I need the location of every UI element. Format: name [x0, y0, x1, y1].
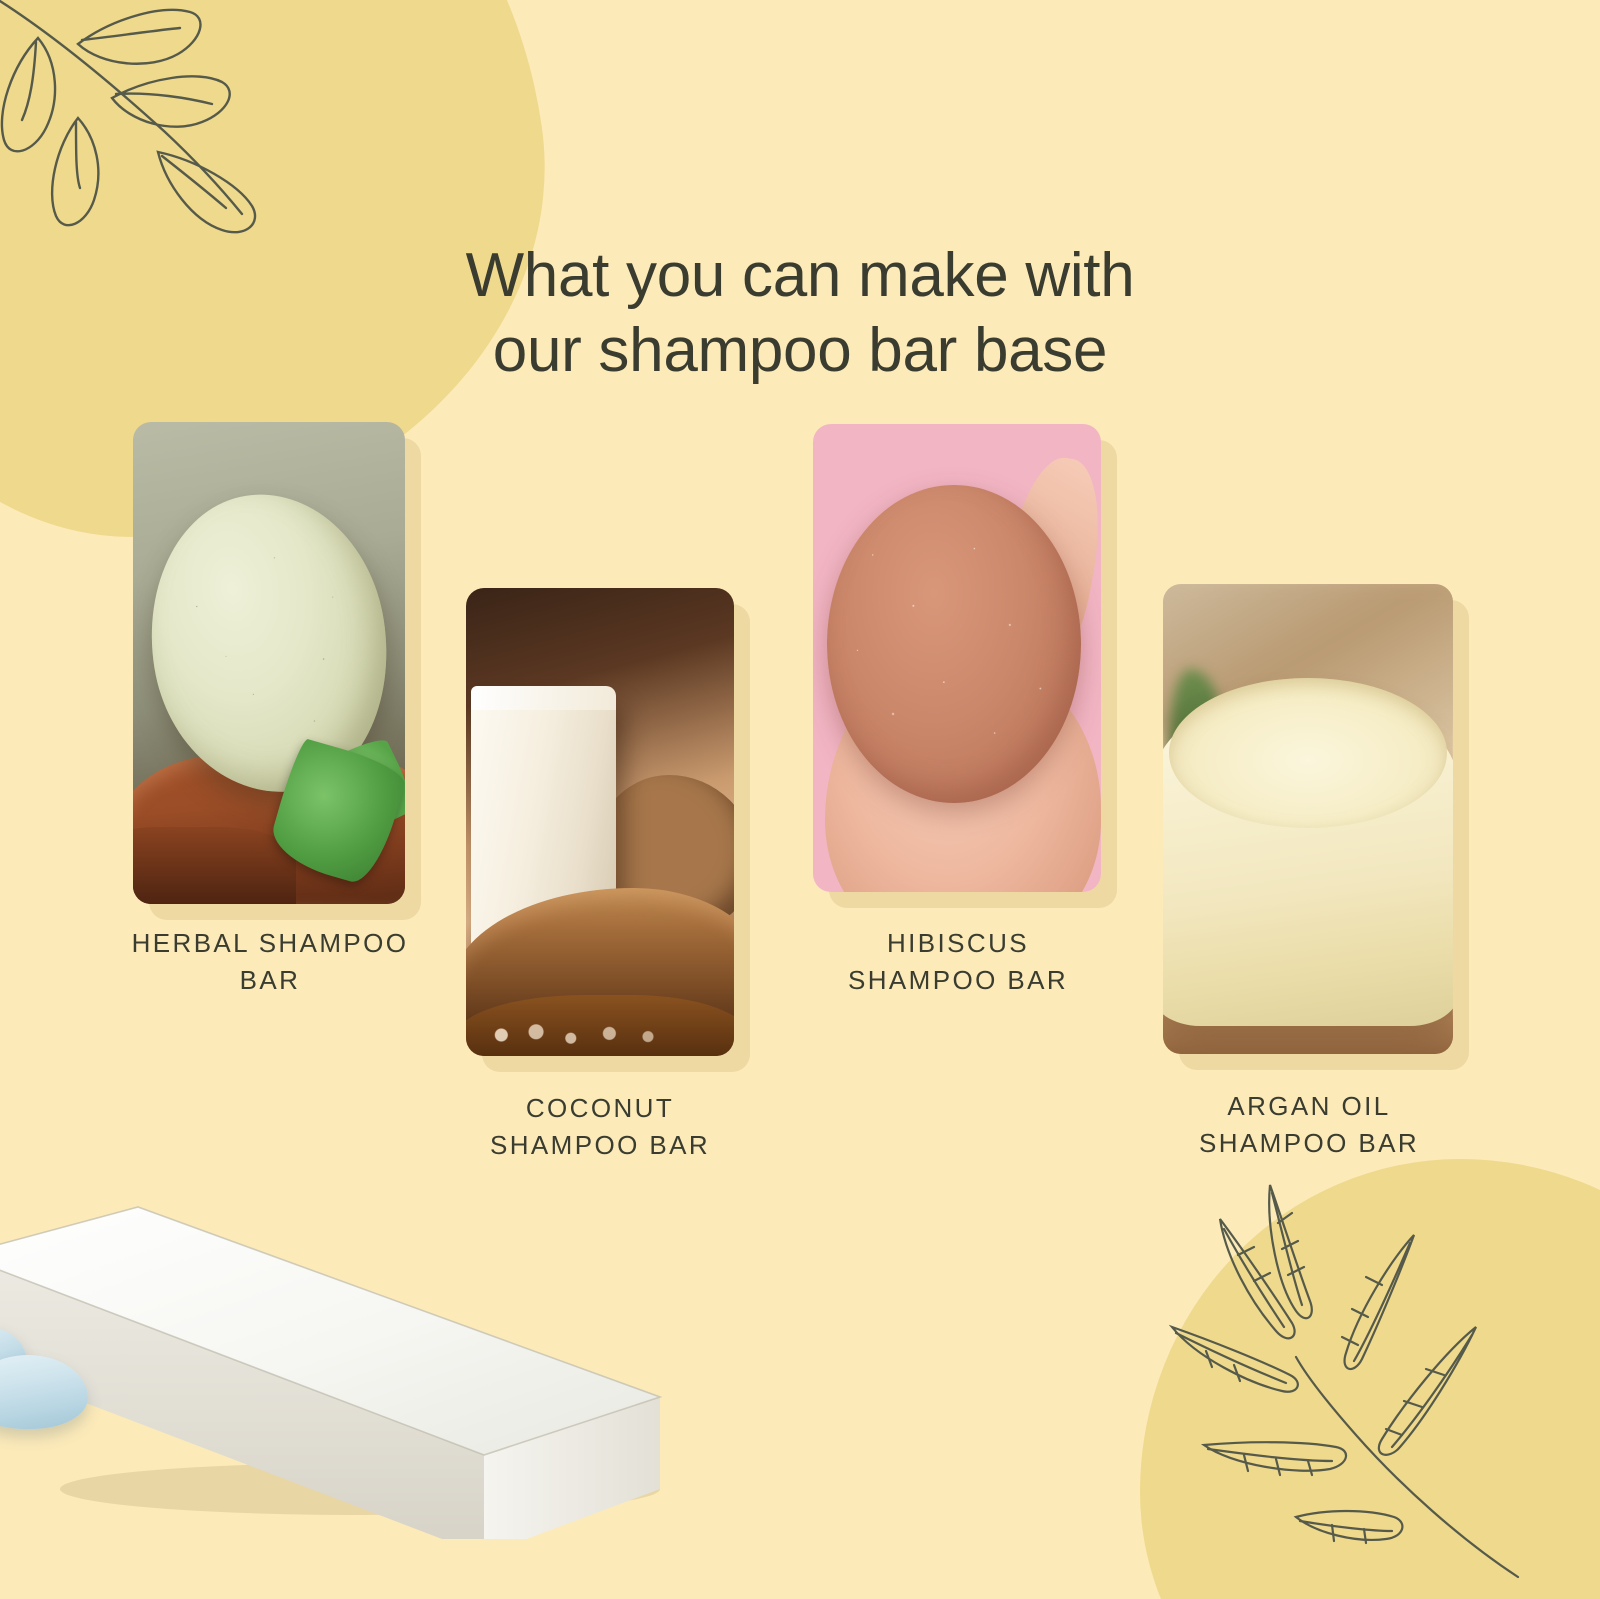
product-caption-argan-oil: ARGAN OIL SHAMPOO BAR — [1085, 1088, 1533, 1162]
poster-canvas: What you can make with our shampoo bar b… — [0, 0, 1600, 1599]
product-caption-line-2: SHAMPOO BAR — [730, 962, 1186, 999]
product-caption-line-1: HIBISCUS — [730, 925, 1186, 962]
product-caption-herbal: HERBAL SHAMPOO BAR — [48, 925, 492, 999]
page-title: What you can make with our shampoo bar b… — [0, 238, 1600, 389]
product-caption-line-1: ARGAN OIL — [1085, 1088, 1533, 1125]
page-title-line-1: What you can make with — [0, 238, 1600, 314]
soap-base-block — [0, 1159, 720, 1539]
product-card-hibiscus[interactable] — [813, 424, 1101, 892]
product-caption-line-1: HERBAL SHAMPOO — [48, 925, 492, 962]
product-caption-line-2: SHAMPOO BAR — [1085, 1125, 1533, 1162]
product-caption-line-1: COCONUT — [380, 1090, 820, 1127]
product-card-argan-oil[interactable] — [1163, 584, 1453, 1054]
product-caption-line-2: BAR — [48, 962, 492, 999]
product-image-coconut — [466, 588, 734, 1056]
product-caption-coconut: COCONUT SHAMPOO BAR — [380, 1090, 820, 1164]
product-card-coconut[interactable] — [466, 588, 734, 1056]
product-image-herbal — [133, 422, 405, 904]
product-image-hibiscus — [813, 424, 1101, 892]
soap-base-block-illustration — [0, 1159, 720, 1539]
leaf-branch-icon — [1120, 1179, 1520, 1579]
product-card-herbal[interactable] — [133, 422, 405, 904]
product-image-argan-oil — [1163, 584, 1453, 1054]
product-caption-hibiscus: HIBISCUS SHAMPOO BAR — [730, 925, 1186, 999]
page-title-line-2: our shampoo bar base — [0, 313, 1600, 389]
